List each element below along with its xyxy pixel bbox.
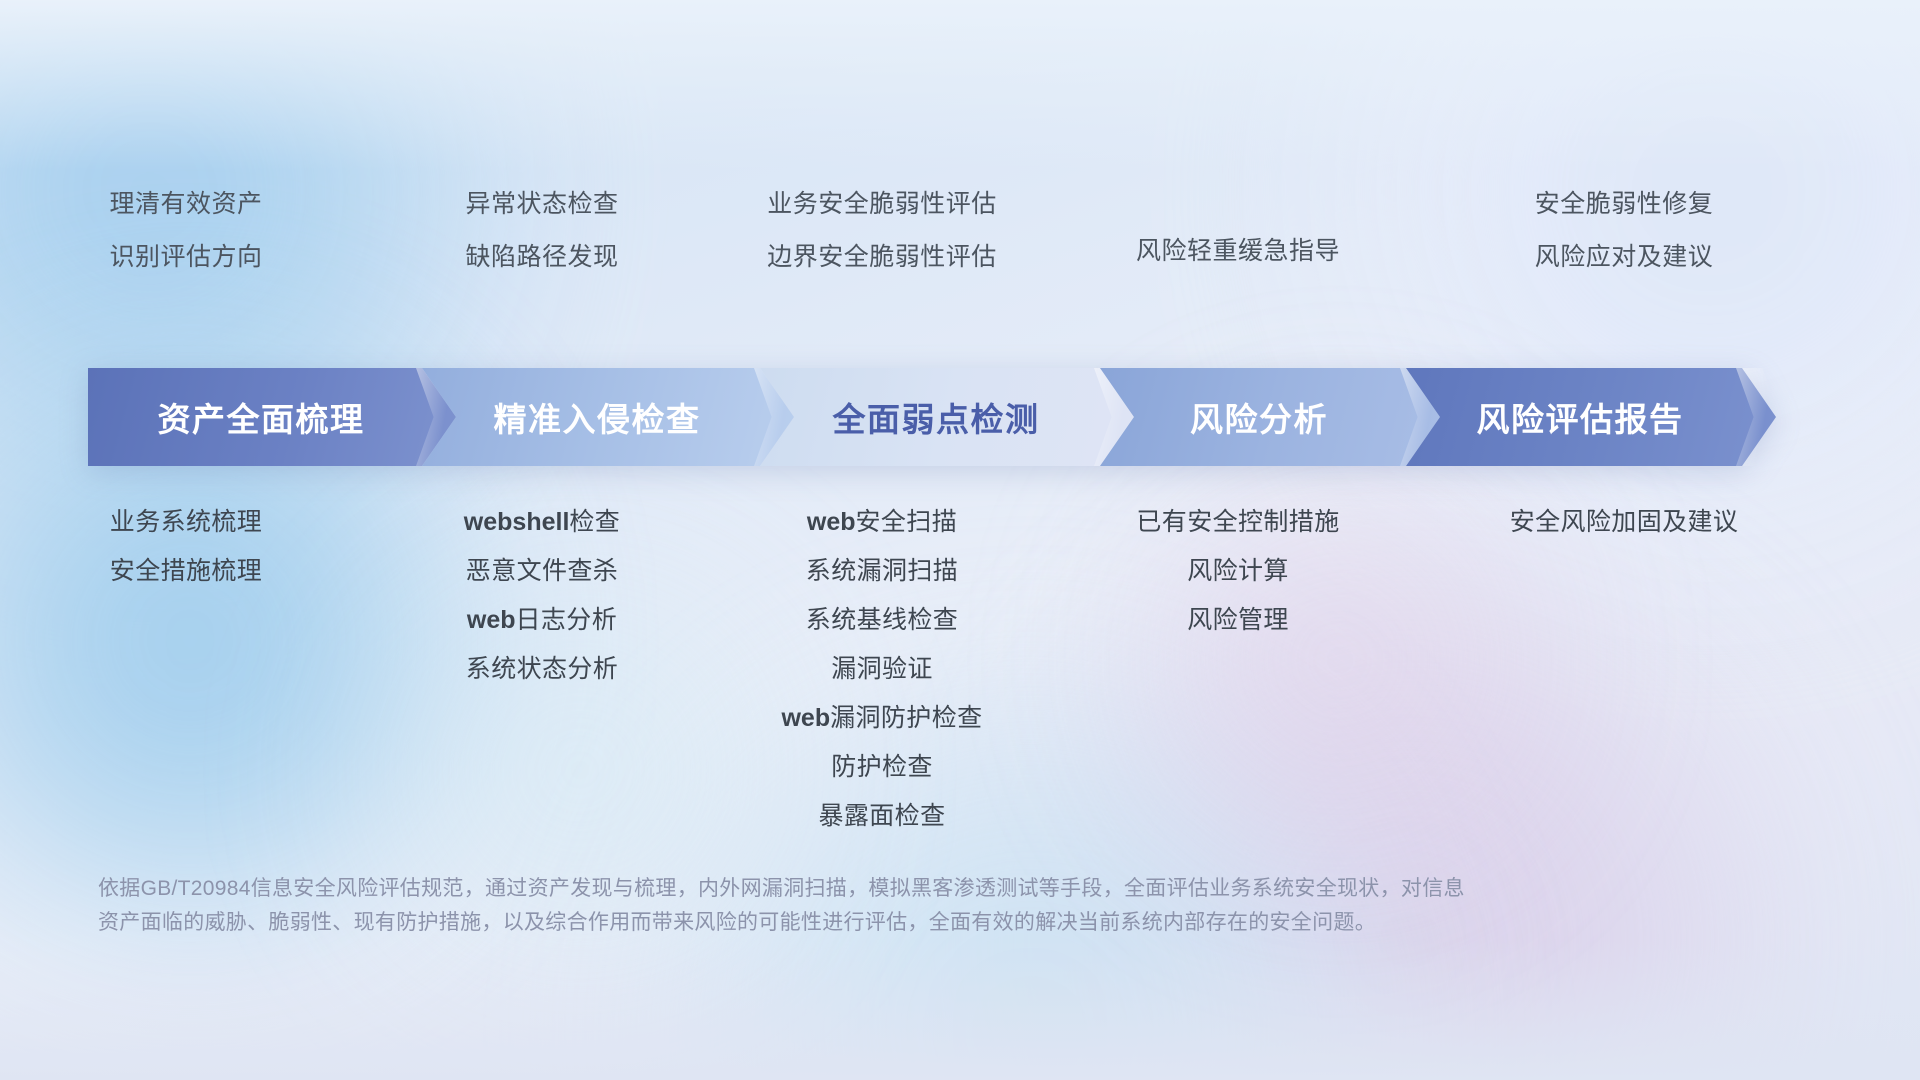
bottom-point: webshell检查: [464, 498, 620, 547]
top-point: 识别评估方向: [109, 231, 262, 284]
stage-title: 资产全面梳理: [158, 393, 387, 441]
top-point: 缺陷路径发现: [465, 231, 618, 284]
bottom-points-risk-report: 安全风险加固及建议: [1424, 498, 1824, 547]
footer-line-1: 依据GB/T20984信息安全风险评估规范，通过资产发现与梳理，内外网漏洞扫描，…: [98, 872, 1608, 906]
bottom-point: web日志分析: [467, 596, 617, 645]
top-point: 风险轻重缓急指导: [1136, 225, 1340, 278]
top-annotation-row: 理清有效资产 识别评估方向 异常状态检查 缺陷路径发现 业务安全脆弱性评估 边界…: [0, 178, 1920, 298]
bottom-point: 安全风险加固及建议: [1510, 498, 1739, 547]
bottom-point: 安全措施梳理: [110, 547, 262, 596]
bottom-point: 系统状态分析: [466, 645, 618, 694]
top-point: 风险应对及建议: [1535, 231, 1714, 284]
stage-arrow-risk-analysis[interactable]: 风险分析: [1100, 368, 1440, 466]
top-point: 业务安全脆弱性评估: [767, 178, 997, 231]
top-point: 边界安全脆弱性评估: [767, 231, 997, 284]
top-point: 理清有效资产: [109, 178, 262, 231]
footer-description: 依据GB/T20984信息安全风险评估规范，通过资产发现与梳理，内外网漏洞扫描，…: [98, 872, 1608, 940]
stage-title: 全面弱点检测: [833, 393, 1062, 441]
bottom-point: 漏洞验证: [831, 645, 933, 694]
bottom-point: 暴露面检查: [818, 792, 945, 841]
top-points-intrusion-check: 异常状态检查 缺陷路径发现: [372, 178, 712, 298]
stage-arrow-weakness-detection[interactable]: 全面弱点检测: [760, 368, 1134, 466]
bottom-point: 恶意文件查杀: [466, 547, 618, 596]
top-points-risk-report: 安全脆弱性修复 风险应对及建议: [1424, 178, 1824, 298]
stage-title: 风险分析: [1190, 393, 1350, 441]
process-diagram: 理清有效资产 识别评估方向 异常状态检查 缺陷路径发现 业务安全脆弱性评估 边界…: [0, 0, 1920, 1080]
stage-title: 风险评估报告: [1477, 393, 1706, 441]
bottom-points-asset-inventory: 业务系统梳理 安全措施梳理: [0, 498, 372, 596]
bottom-point: 业务系统梳理: [110, 498, 262, 547]
top-points-risk-analysis: 风险轻重缓急指导: [1052, 178, 1424, 298]
stage-arrow-intrusion-check[interactable]: 精准入侵检查: [422, 368, 794, 466]
bottom-point: 风险计算: [1187, 547, 1289, 596]
bottom-point: 防护检查: [831, 743, 933, 792]
stage-arrow-asset-inventory[interactable]: 资产全面梳理: [88, 368, 456, 466]
stage-arrow-risk-report[interactable]: 风险评估报告: [1406, 368, 1776, 466]
top-point: 安全脆弱性修复: [1535, 178, 1714, 231]
bottom-annotation-row: 业务系统梳理 安全措施梳理 webshell检查 恶意文件查杀 web日志分析 …: [0, 498, 1920, 841]
bottom-points-risk-analysis: 已有安全控制措施 风险计算 风险管理: [1052, 498, 1424, 645]
bottom-point: 风险管理: [1187, 596, 1289, 645]
stage-arrow-band: 资产全面梳理 精准入侵检查 全面弱点检测 风险分析 风险评估报告: [88, 368, 1848, 466]
bottom-point: 已有安全控制措施: [1136, 498, 1339, 547]
stage-title: 精准入侵检查: [494, 393, 723, 441]
footer-line-2: 资产面临的威胁、脆弱性、现有防护措施，以及综合作用而带来风险的可能性进行评估，全…: [98, 906, 1608, 940]
bottom-points-intrusion-check: webshell检查 恶意文件查杀 web日志分析 系统状态分析: [372, 498, 712, 694]
bottom-point: web安全扫描: [807, 498, 957, 547]
bottom-points-weakness-detection: web安全扫描 系统漏洞扫描 系统基线检查 漏洞验证 web漏洞防护检查 防护检…: [712, 498, 1052, 841]
bottom-point: 系统基线检查: [806, 596, 958, 645]
top-point: 异常状态检查: [465, 178, 618, 231]
bottom-point: web漏洞防护检查: [781, 694, 982, 743]
top-points-weakness-detection: 业务安全脆弱性评估 边界安全脆弱性评估: [712, 178, 1052, 298]
top-points-asset-inventory: 理清有效资产 识别评估方向: [0, 178, 372, 298]
bottom-point: 系统漏洞扫描: [806, 547, 958, 596]
